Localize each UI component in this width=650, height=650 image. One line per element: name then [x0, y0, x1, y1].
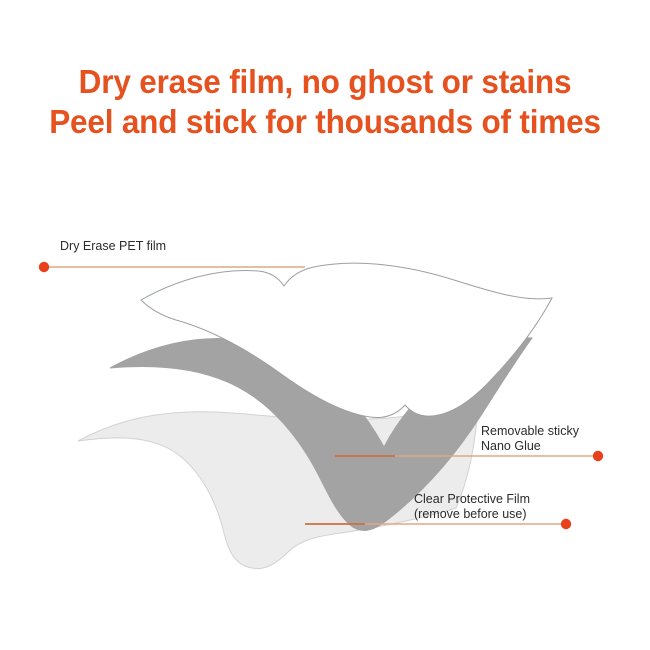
product-infographic: Dry erase film, no ghost or stains Peel …	[0, 0, 650, 650]
callout-label-clear-film: Clear Protective Film (remove before use…	[414, 492, 530, 522]
callout-dot-pet-film	[39, 262, 49, 272]
callout-pet-film	[39, 262, 305, 272]
callout-label-nano-glue: Removable sticky Nano Glue	[481, 424, 579, 454]
exploded-layer-diagram	[0, 0, 650, 650]
callout-dot-nano-glue	[593, 451, 603, 461]
callout-dot-clear-film	[561, 519, 571, 529]
callout-label-pet-film: Dry Erase PET film	[60, 239, 166, 254]
